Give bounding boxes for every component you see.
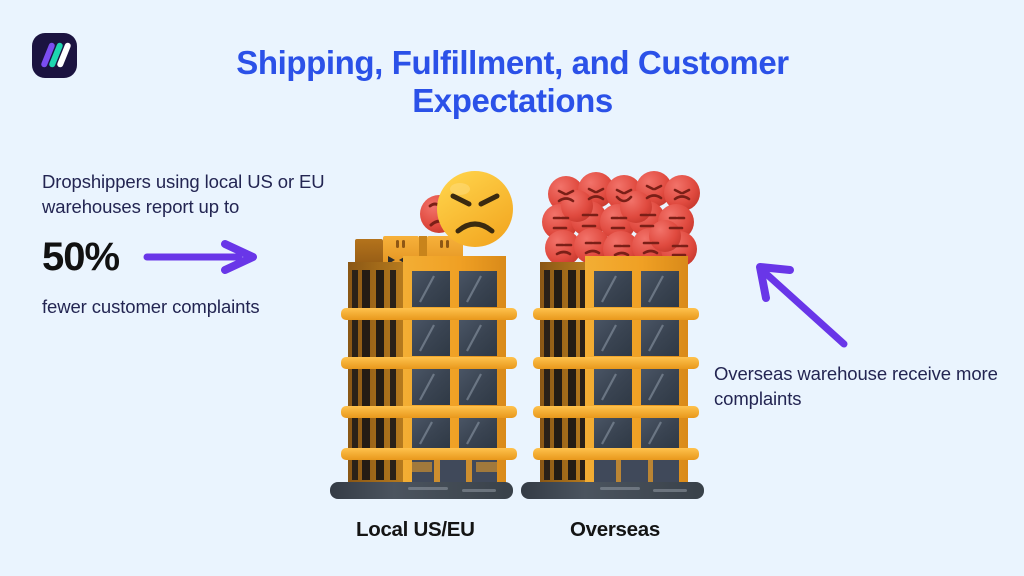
left-callout-tail: fewer customer complaints <box>42 295 372 320</box>
left-callout-lead: Dropshippers using local US or EU wareho… <box>42 170 372 219</box>
angry-face-pile-icon <box>542 171 700 267</box>
stat-value: 50% <box>42 237 119 277</box>
caption-local: Local US/EU <box>356 518 475 542</box>
arrow-right-icon <box>143 239 263 275</box>
infographic-canvas: Shipping, Fulfillment, and Customer Expe… <box>0 0 1024 576</box>
warehouse-building-overseas <box>521 171 704 499</box>
left-callout: Dropshippers using local US or EU wareho… <box>42 170 372 320</box>
angry-face-icon-large <box>437 171 513 247</box>
stat-row: 50% <box>42 233 372 281</box>
caption-overseas: Overseas <box>570 518 660 542</box>
right-callout-text: Overseas warehouse receive more complain… <box>714 362 1014 411</box>
arrow-up-left-icon <box>748 258 858 353</box>
right-callout: Overseas warehouse receive more complain… <box>714 362 1014 411</box>
